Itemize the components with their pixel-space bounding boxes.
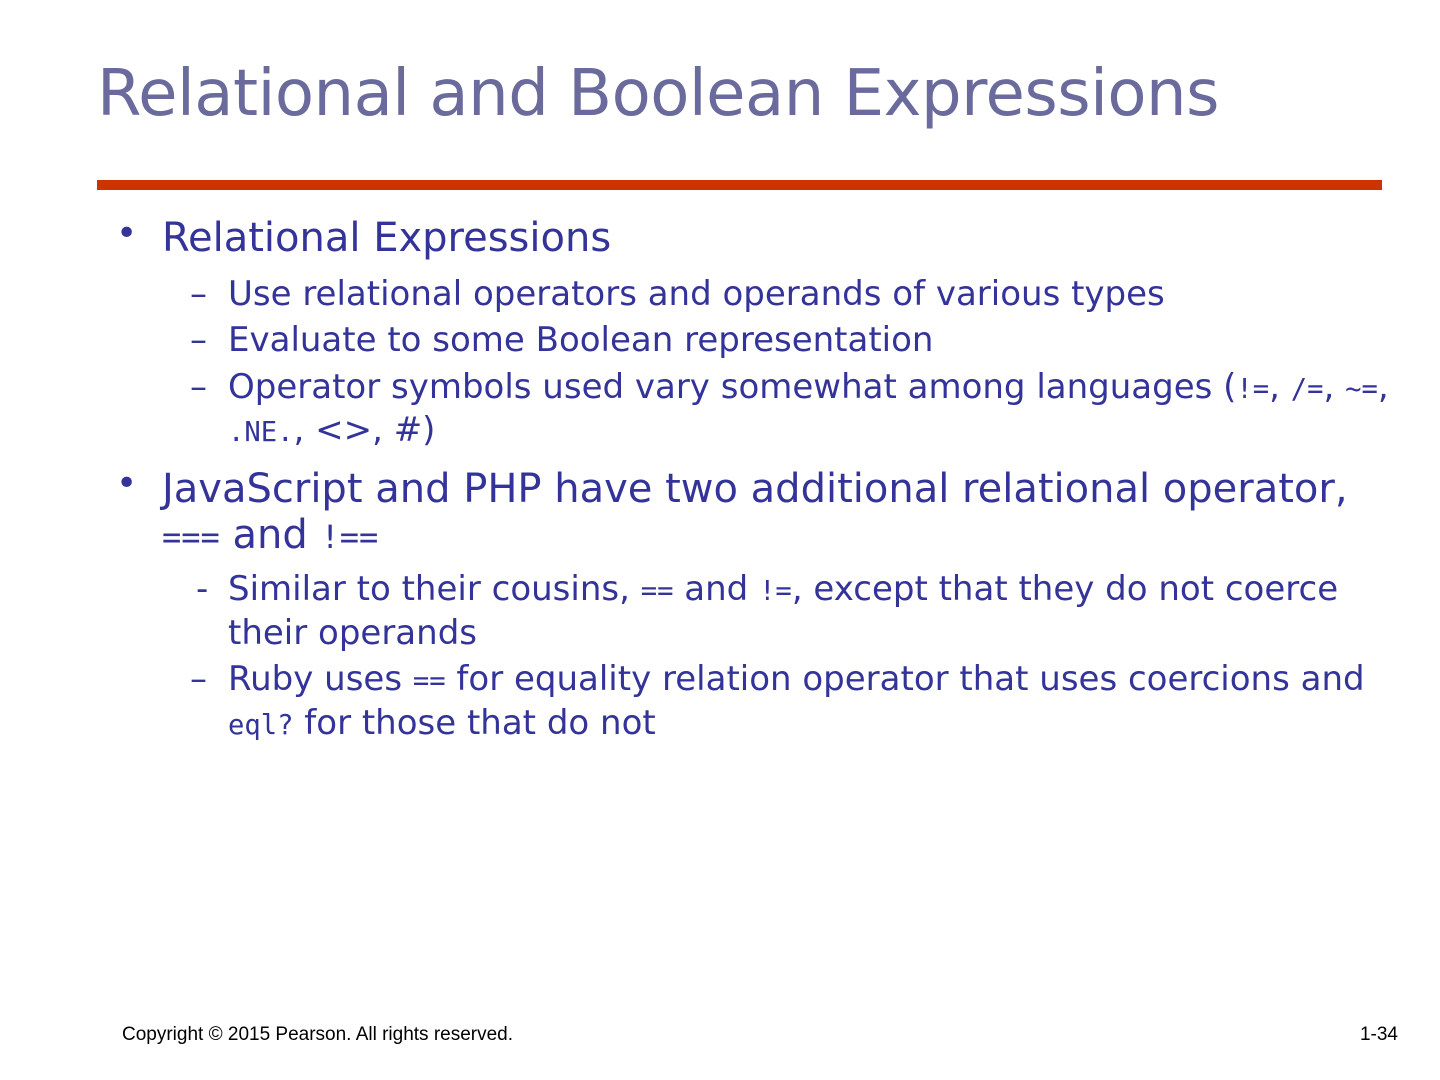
code-strict-equal: === xyxy=(162,518,220,556)
subbullet-operator-symbols-vary: – Operator symbols used vary somewhat am… xyxy=(104,367,1394,454)
subbullet-evaluate-boolean: – Evaluate to some Boolean representatio… xyxy=(104,320,1394,360)
bullet-marker-hyphen: - xyxy=(196,569,208,609)
subbullet-text-pre: Ruby uses xyxy=(228,659,413,699)
subbullet-text-mid: and xyxy=(673,569,759,609)
subbullet-ruby-equality: – Ruby uses == for equality relation ope… xyxy=(104,659,1394,746)
spacer xyxy=(104,561,1394,569)
subbullet-text-post: for those that do not xyxy=(293,703,655,743)
slide: Relational and Boolean Expressions • Rel… xyxy=(0,0,1440,1080)
bullet-text-pre: JavaScript and PHP have two additional r… xyxy=(162,466,1348,512)
bullet-text-mid: and xyxy=(220,512,321,558)
code-loose-equal: == xyxy=(641,576,674,607)
bullet-text: Relational Expressions xyxy=(162,215,611,261)
title-block: Relational and Boolean Expressions xyxy=(97,62,1387,182)
subbullet-text-post: , <>, #) xyxy=(293,410,435,450)
code-strict-not-equal: !== xyxy=(320,518,378,556)
code-not-equal-ne: .NE. xyxy=(228,417,293,448)
code-ruby-equal: == xyxy=(413,666,446,697)
code-loose-not-equal: != xyxy=(759,576,792,607)
footer-page-number: 1-34 xyxy=(1360,1024,1398,1046)
code-not-equal-slash: /= xyxy=(1291,374,1324,405)
subbullet-use-relational-operators: – Use relational operators and operands … xyxy=(104,274,1394,314)
title-divider-rule xyxy=(97,180,1382,190)
separator: , xyxy=(1269,367,1291,407)
subbullet-similar-to-cousins: - Similar to their cousins, == and !=, e… xyxy=(104,569,1394,653)
separator: , xyxy=(1378,367,1389,407)
spacer xyxy=(104,262,1394,274)
code-not-equal-tilde: ~= xyxy=(1345,374,1378,405)
subbullet-text-pre: Similar to their cousins, xyxy=(228,569,641,609)
bullet-marker-dash: – xyxy=(190,320,207,360)
subbullet-text-mid: for equality relation operator that uses… xyxy=(446,659,1365,699)
code-ruby-eql: eql? xyxy=(228,710,293,741)
bullet-marker-dash: – xyxy=(190,274,207,314)
footer-copyright: Copyright © 2015 Pearson. All rights res… xyxy=(122,1024,513,1046)
subbullet-text-pre: Operator symbols used vary somewhat amon… xyxy=(228,367,1236,407)
bullet-marker-dash: – xyxy=(190,659,207,699)
bullet-relational-expressions: • Relational Expressions xyxy=(104,215,1394,262)
spacer xyxy=(104,454,1394,466)
page-title: Relational and Boolean Expressions xyxy=(97,62,1387,127)
bullet-javascript-php-operators: • JavaScript and PHP have two additional… xyxy=(104,466,1394,562)
subbullet-text: Evaluate to some Boolean representation xyxy=(228,320,933,360)
bullet-marker-dash: – xyxy=(190,367,207,407)
bullet-marker-dot: • xyxy=(116,213,137,255)
code-not-equal-bang: != xyxy=(1236,374,1269,405)
separator: , xyxy=(1324,367,1346,407)
bullet-marker-dot: • xyxy=(116,463,137,505)
subbullet-text: Use relational operators and operands of… xyxy=(228,274,1165,314)
body-content: • Relational Expressions – Use relationa… xyxy=(104,215,1394,746)
